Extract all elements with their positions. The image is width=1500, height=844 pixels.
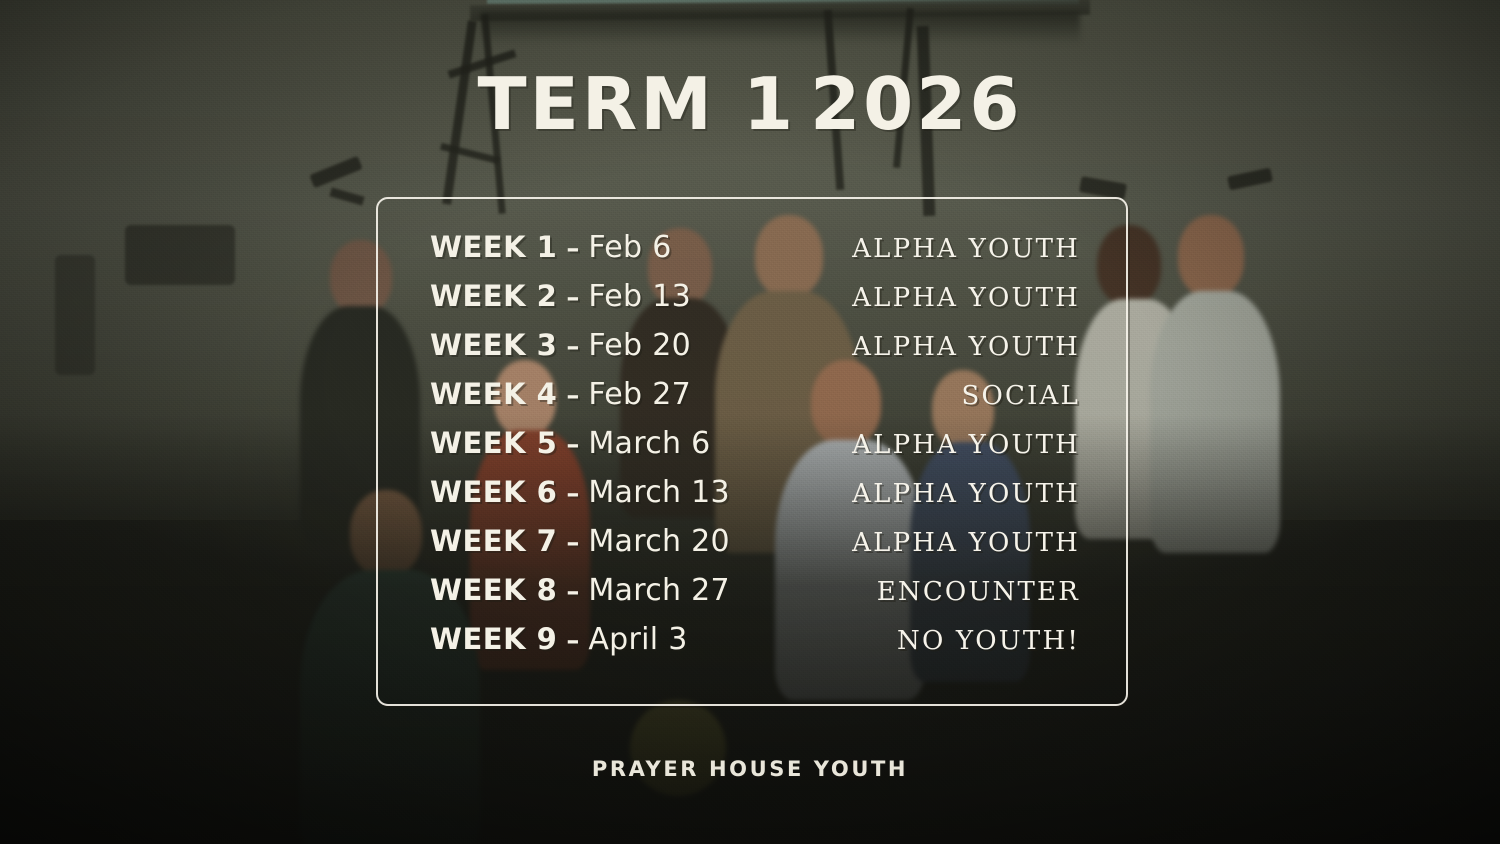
week-date: March 27: [588, 573, 730, 608]
week-label: WEEK 5: [430, 426, 557, 460]
table-row: WEEK 8 – March 27 ENCOUNTER: [430, 573, 1080, 622]
week-label: WEEK 1: [430, 230, 557, 264]
row-separator-dash: –: [566, 577, 579, 607]
week-label: WEEK 9: [430, 622, 557, 656]
week-date: Feb 20: [588, 328, 691, 363]
week-event: ALPHA YOUTH: [828, 479, 1080, 509]
week-date: March 13: [588, 475, 730, 510]
week-date: Feb 13: [588, 279, 691, 314]
week-date: Feb 6: [588, 230, 671, 265]
week-label: WEEK 7: [430, 524, 557, 558]
row-separator-dash: –: [566, 528, 579, 558]
week-date: April 3: [588, 622, 687, 657]
week-label: WEEK 4: [430, 377, 557, 411]
footer-brand: PRAYER HOUSE YOUTH: [0, 757, 1500, 781]
row-left-group: WEEK 3 – Feb 20: [430, 328, 691, 363]
week-label: WEEK 6: [430, 475, 557, 509]
row-left-group: WEEK 9 – April 3: [430, 622, 688, 657]
week-event: NO YOUTH!: [873, 626, 1080, 656]
row-separator-dash: –: [566, 430, 579, 460]
table-row: WEEK 1 – Feb 6 ALPHA YOUTH: [430, 230, 1080, 279]
week-event: ENCOUNTER: [853, 577, 1080, 607]
title-year: 2026: [810, 62, 1022, 146]
row-separator-dash: –: [566, 626, 579, 656]
table-row: WEEK 7 – March 20 ALPHA YOUTH: [430, 524, 1080, 573]
table-row: WEEK 4 – Feb 27 SOCIAL: [430, 377, 1080, 426]
schedule-list: WEEK 1 – Feb 6 ALPHA YOUTH WEEK 2 – Feb …: [430, 230, 1080, 671]
title-term: TERM 1: [478, 62, 797, 146]
table-row: WEEK 2 – Feb 13 ALPHA YOUTH: [430, 279, 1080, 328]
week-date: March 20: [588, 524, 730, 559]
row-separator-dash: –: [566, 381, 579, 411]
week-label: WEEK 2: [430, 279, 557, 313]
row-separator-dash: –: [566, 479, 579, 509]
row-left-group: WEEK 5 – March 6: [430, 426, 711, 461]
row-left-group: WEEK 8 – March 27: [430, 573, 730, 608]
week-label: WEEK 3: [430, 328, 557, 362]
table-row: WEEK 5 – March 6 ALPHA YOUTH: [430, 426, 1080, 475]
poster-content: TERM 12026 WEEK 1 – Feb 6 ALPHA YOUTH WE…: [0, 0, 1500, 844]
row-left-group: WEEK 6 – March 13: [430, 475, 730, 510]
row-separator-dash: –: [566, 332, 579, 362]
table-row: WEEK 3 – Feb 20 ALPHA YOUTH: [430, 328, 1080, 377]
row-separator-dash: –: [566, 234, 579, 264]
row-left-group: WEEK 7 – March 20: [430, 524, 730, 559]
week-date: Feb 27: [588, 377, 691, 412]
poster-root: TERM 12026 WEEK 1 – Feb 6 ALPHA YOUTH WE…: [0, 0, 1500, 844]
week-label: WEEK 8: [430, 573, 557, 607]
week-event: ALPHA YOUTH: [828, 234, 1080, 264]
week-event: ALPHA YOUTH: [828, 283, 1080, 313]
week-date: March 6: [588, 426, 710, 461]
row-left-group: WEEK 1 – Feb 6: [430, 230, 672, 265]
week-event: SOCIAL: [937, 381, 1080, 411]
week-event: ALPHA YOUTH: [828, 528, 1080, 558]
page-title: TERM 12026: [0, 68, 1500, 140]
table-row: WEEK 9 – April 3 NO YOUTH!: [430, 622, 1080, 671]
row-separator-dash: –: [566, 283, 579, 313]
week-event: ALPHA YOUTH: [828, 332, 1080, 362]
week-event: ALPHA YOUTH: [828, 430, 1080, 460]
row-left-group: WEEK 4 – Feb 27: [430, 377, 691, 412]
row-left-group: WEEK 2 – Feb 13: [430, 279, 691, 314]
table-row: WEEK 6 – March 13 ALPHA YOUTH: [430, 475, 1080, 524]
